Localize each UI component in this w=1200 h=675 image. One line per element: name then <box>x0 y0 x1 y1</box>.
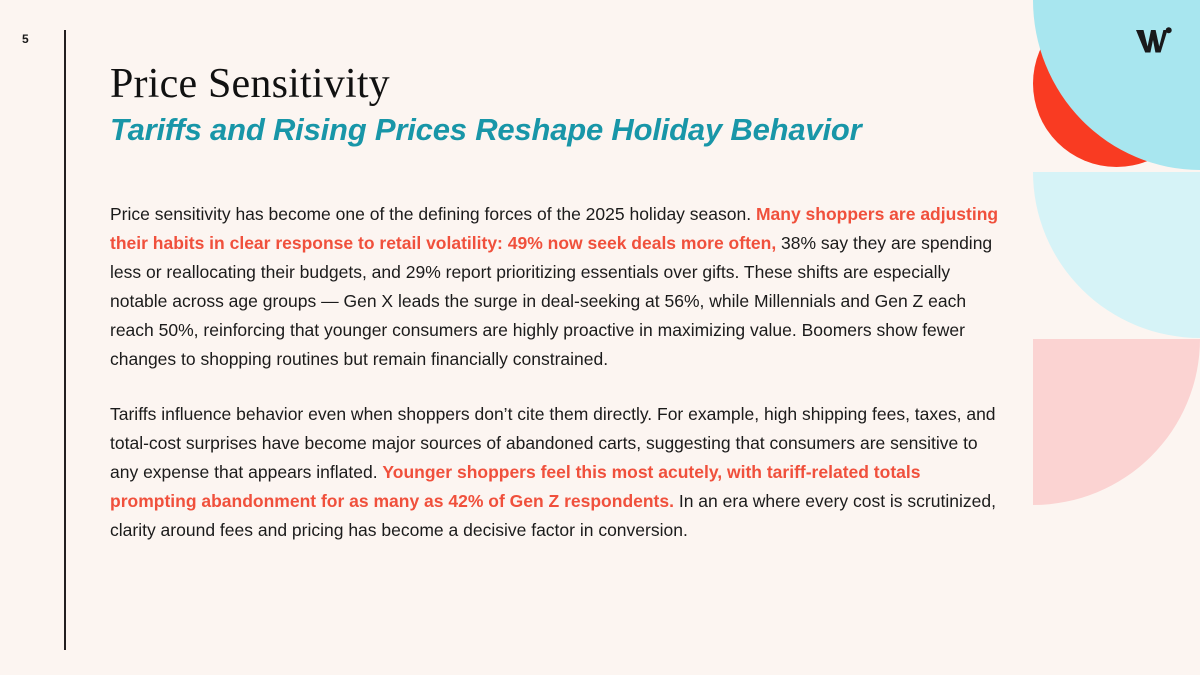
decorative-shapes-column <box>1033 0 1200 675</box>
vertical-divider <box>64 30 66 650</box>
body-text: 38% say they are spending less or reallo… <box>110 233 992 369</box>
body-text: Price sensitivity has become one of the … <box>110 204 756 224</box>
page-number: 5 <box>22 32 29 46</box>
heading-block: Price Sensitivity Tariffs and Rising Pri… <box>110 62 990 148</box>
red-circle-icon <box>1033 0 1200 167</box>
cyan-quarter-circle-icon <box>1033 0 1200 170</box>
pale-blue-quarter-circle-icon <box>1033 172 1200 338</box>
paragraph-2: Tariffs influence behavior even when sho… <box>110 400 1010 545</box>
paragraph-1: Price sensitivity has become one of the … <box>110 200 1010 374</box>
page-title: Price Sensitivity <box>110 62 990 107</box>
pink-quarter-circle-icon <box>1033 339 1200 505</box>
brand-logo-icon <box>1134 24 1174 56</box>
body-copy: Price sensitivity has become one of the … <box>110 200 1010 545</box>
page-subtitle: Tariffs and Rising Prices Reshape Holida… <box>110 113 990 148</box>
slide-canvas: 5 Price Sensitivity Tariffs and Rising P… <box>0 0 1200 675</box>
